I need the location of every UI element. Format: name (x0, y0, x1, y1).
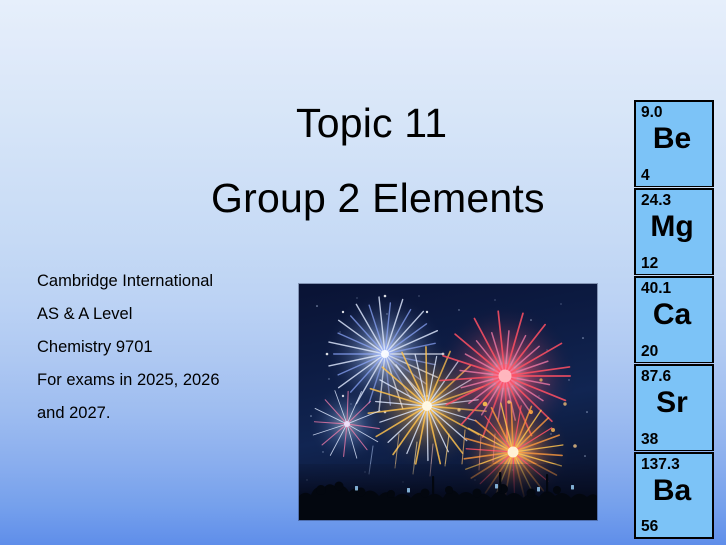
element-symbol: Be (636, 122, 708, 156)
element-cell-sr: 87.6 Sr 38 (634, 364, 714, 451)
element-cell-be: 9.0 Be 4 (634, 100, 714, 187)
element-atomic-number: 12 (641, 255, 658, 273)
element-cell-mg: 24.3 Mg 12 (634, 188, 714, 275)
caption-line: AS & A Level (37, 298, 287, 331)
element-mass: 87.6 (641, 368, 671, 386)
element-symbol: Mg (636, 210, 708, 244)
element-mass: 9.0 (641, 104, 663, 122)
presentation-slide: Topic 11 Group 2 Elements Cambridge Inte… (0, 0, 726, 545)
slide-title-topic: Topic 11 (296, 99, 447, 147)
element-cell-ca: 40.1 Ca 20 (634, 276, 714, 363)
element-symbol: Ca (636, 298, 708, 332)
caption-line: Cambridge International (37, 265, 287, 298)
caption-line: and 2027. (37, 397, 287, 430)
caption-line: For exams in 2025, 2026 (37, 364, 287, 397)
element-mass: 137.3 (641, 456, 680, 474)
slide-title-main: Group 2 Elements (211, 174, 545, 222)
element-symbol: Ba (636, 474, 708, 508)
element-mass: 24.3 (641, 192, 671, 210)
fireworks-image (299, 284, 597, 520)
element-cell-ba: 137.3 Ba 56 (634, 452, 714, 539)
element-atomic-number: 56 (641, 518, 658, 536)
group-2-element-column: 9.0 Be 4 24.3 Mg 12 40.1 Ca 20 87.6 Sr 3… (634, 100, 714, 539)
element-symbol: Sr (636, 386, 708, 420)
element-atomic-number: 20 (641, 343, 658, 361)
course-caption-block: Cambridge International AS & A Level Che… (37, 265, 287, 430)
element-atomic-number: 4 (641, 167, 650, 185)
element-atomic-number: 38 (641, 431, 658, 449)
caption-line: Chemistry 9701 (37, 331, 287, 364)
element-mass: 40.1 (641, 280, 671, 298)
